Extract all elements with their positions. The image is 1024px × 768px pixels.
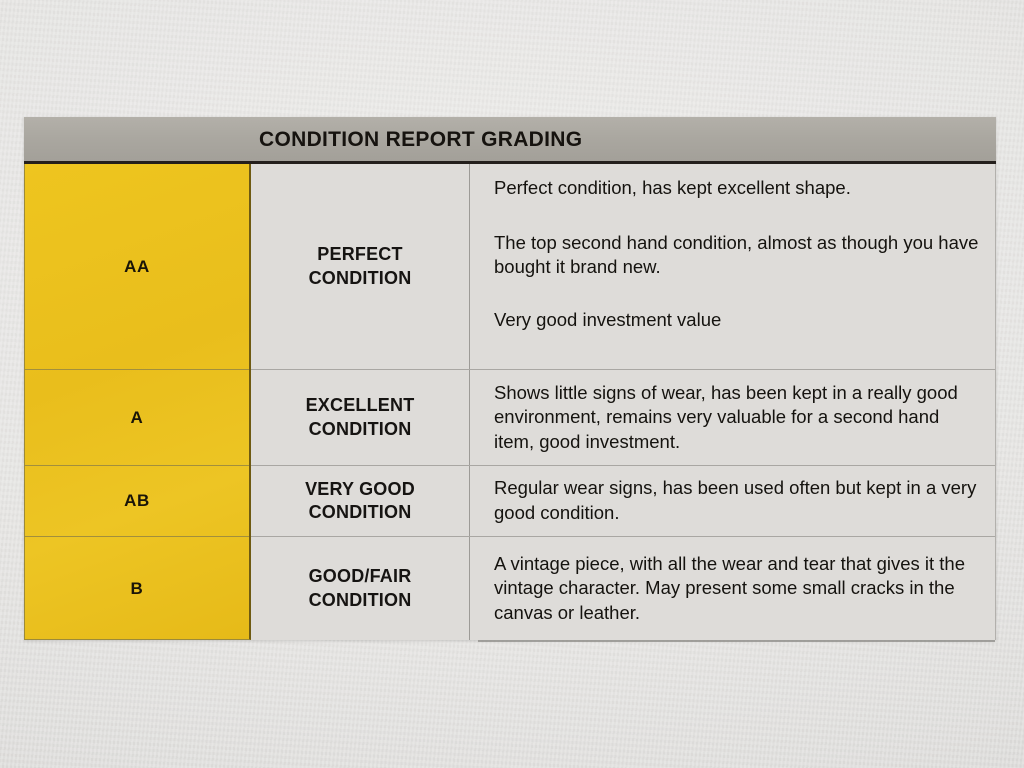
description-paragraph: Regular wear signs, has been used often … — [494, 476, 981, 525]
table-row: EXCELLENT CONDITION Shows little signs o… — [251, 369, 995, 465]
table-bottom-border — [478, 640, 995, 642]
table-row: VERY GOOD CONDITION Regular wear signs, … — [251, 465, 995, 536]
table-header-band: CONDITION REPORT GRADING — [24, 117, 996, 164]
grade-column: AA A AB B — [24, 164, 251, 640]
condition-name: PERFECT CONDITION — [309, 243, 412, 289]
condition-description-cell: A vintage piece, with all the wear and t… — [470, 537, 995, 640]
table-body: AA A AB B PERFECT CONDITION Perfect cond… — [24, 164, 996, 640]
grade-label: A — [131, 408, 144, 428]
description-paragraph: Perfect condition, has kept excellent sh… — [494, 176, 981, 201]
grade-cell-b: B — [25, 536, 249, 640]
grade-label: AB — [124, 491, 150, 511]
condition-name-cell: VERY GOOD CONDITION — [251, 466, 470, 536]
grade-cell-a: A — [25, 369, 249, 465]
description-paragraph: Very good investment value — [494, 308, 981, 333]
description-paragraph: Shows little signs of wear, has been kep… — [494, 381, 981, 455]
condition-name: GOOD/FAIR CONDITION — [309, 565, 412, 611]
condition-name: EXCELLENT CONDITION — [306, 394, 415, 440]
description-paragraph: The top second hand condition, almost as… — [494, 231, 981, 280]
description-paragraph: A vintage piece, with all the wear and t… — [494, 552, 981, 626]
table-row: PERFECT CONDITION Perfect condition, has… — [251, 164, 995, 369]
grade-cell-aa: AA — [25, 164, 249, 369]
condition-name-cell: PERFECT CONDITION — [251, 164, 470, 369]
page-title: CONDITION REPORT GRADING — [259, 128, 582, 152]
condition-name: VERY GOOD CONDITION — [305, 478, 415, 524]
grade-label: B — [131, 579, 144, 599]
grade-cell-ab: AB — [25, 465, 249, 536]
condition-name-cell: EXCELLENT CONDITION — [251, 370, 470, 465]
description-columns: PERFECT CONDITION Perfect condition, has… — [251, 164, 996, 640]
condition-report-grading-table: CONDITION REPORT GRADING AA A AB B PERFE… — [24, 117, 996, 640]
condition-name-cell: GOOD/FAIR CONDITION — [251, 537, 470, 640]
condition-description-cell: Regular wear signs, has been used often … — [470, 466, 995, 536]
condition-description-cell: Perfect condition, has kept excellent sh… — [470, 164, 995, 369]
grade-label: AA — [124, 257, 150, 277]
condition-description-cell: Shows little signs of wear, has been kep… — [470, 370, 995, 465]
table-row: GOOD/FAIR CONDITION A vintage piece, wit… — [251, 536, 995, 640]
